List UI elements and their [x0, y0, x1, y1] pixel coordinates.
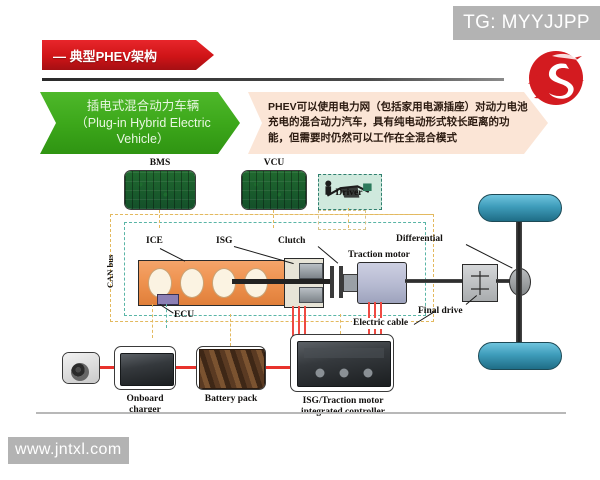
final-drive-label: Final drive	[418, 306, 463, 317]
onboard-charger-line1: Onboard	[127, 394, 164, 404]
vcu-can-stub	[273, 210, 276, 228]
charging-plug-icon	[71, 363, 89, 381]
charging-plug-module	[62, 352, 100, 384]
clutch-plate	[330, 266, 334, 298]
term-en: （Plug-in Hybrid Electric Vehicle）	[75, 116, 210, 147]
traction-motor-label: Traction motor	[348, 250, 410, 261]
battery-pack-label: Battery pack	[191, 394, 271, 405]
integrated-controller-label: ISG/Traction motor integrated controller	[278, 396, 408, 417]
driver-secondary-box	[318, 210, 366, 230]
footer-divider-rule	[36, 412, 566, 414]
bms-module	[124, 170, 196, 210]
ecu-label: ECU	[174, 310, 194, 321]
phev-architecture-diagram: BMS VCU Driver CAN bus	[0, 158, 600, 418]
charger-to-battery-wire	[176, 366, 196, 369]
term-chevron: 插电式混合动力车辆 （Plug-in Hybrid Electric Vehic…	[40, 92, 240, 154]
isg-cable	[298, 306, 300, 336]
term-cn: 插电式混合动力车辆	[87, 99, 200, 113]
controller-can-stub	[340, 314, 343, 334]
vcu-module	[241, 170, 307, 210]
bms-label: BMS	[124, 158, 196, 169]
battery-to-controller-wire	[266, 366, 290, 369]
bms-can-stub	[159, 210, 162, 228]
banner-divider-rule	[42, 78, 504, 81]
final-drive-gearbox	[462, 264, 498, 302]
term-chevron-label: 插电式混合动力车辆 （Plug-in Hybrid Electric Vehic…	[40, 98, 240, 148]
traction-motor	[357, 262, 407, 304]
battery-pack-image	[199, 349, 265, 389]
slide-canvas: TG: MYYJJPP www.jntxl.com — 典型PHEV架构 插电式…	[0, 0, 600, 480]
controller-line1: ISG/Traction motor	[303, 396, 384, 406]
ice-label: ICE	[146, 236, 163, 247]
battery-can-stub	[230, 314, 233, 346]
wheel-front	[478, 194, 562, 222]
isg-stator-bottom	[299, 287, 323, 303]
ecu-inner-stub	[166, 304, 169, 328]
wheel-rear	[478, 342, 562, 370]
electric-cable-label: Electric cable	[352, 318, 409, 329]
section-banner: — 典型PHEV架构	[42, 40, 214, 70]
battery-pack-module	[196, 346, 266, 390]
can-bus-label: CAN bus	[106, 255, 116, 288]
crankshaft	[232, 279, 330, 284]
driver-label: Driver	[318, 188, 380, 199]
onboard-charger-module	[114, 346, 176, 390]
vcu-label: VCU	[241, 158, 307, 169]
description-chevron: PHEV可以使用电力网（包括家用电源插座）对动力电池充电的混合动力汽车，具有纯电…	[248, 92, 548, 154]
engine-cylinder	[180, 268, 204, 298]
site-watermark: www.jntxl.com	[8, 437, 129, 464]
section-banner-label: — 典型PHEV架构	[42, 46, 157, 65]
telegram-watermark: TG: MYYJJPP	[453, 6, 600, 40]
isg-cable	[304, 306, 306, 336]
ecu-can-stub	[152, 304, 155, 338]
isg-cable	[292, 306, 294, 336]
red-circular-crane-s-logo-icon	[522, 42, 588, 112]
onboard-charger-image	[120, 353, 174, 386]
isg-label: ISG	[216, 236, 232, 247]
isg-stator-top	[299, 263, 323, 279]
charge-wire	[100, 366, 114, 369]
motor-output-shaft	[405, 279, 463, 283]
drive-axle	[516, 204, 522, 364]
integrated-controller-module	[290, 334, 394, 392]
differential-label: Differential	[396, 234, 443, 245]
description-text: PHEV可以使用电力网（包括家用电源插座）对动力电池充电的混合动力汽车，具有纯电…	[248, 100, 548, 146]
clutch-label: Clutch	[278, 236, 305, 247]
integrated-controller-image	[297, 341, 391, 387]
